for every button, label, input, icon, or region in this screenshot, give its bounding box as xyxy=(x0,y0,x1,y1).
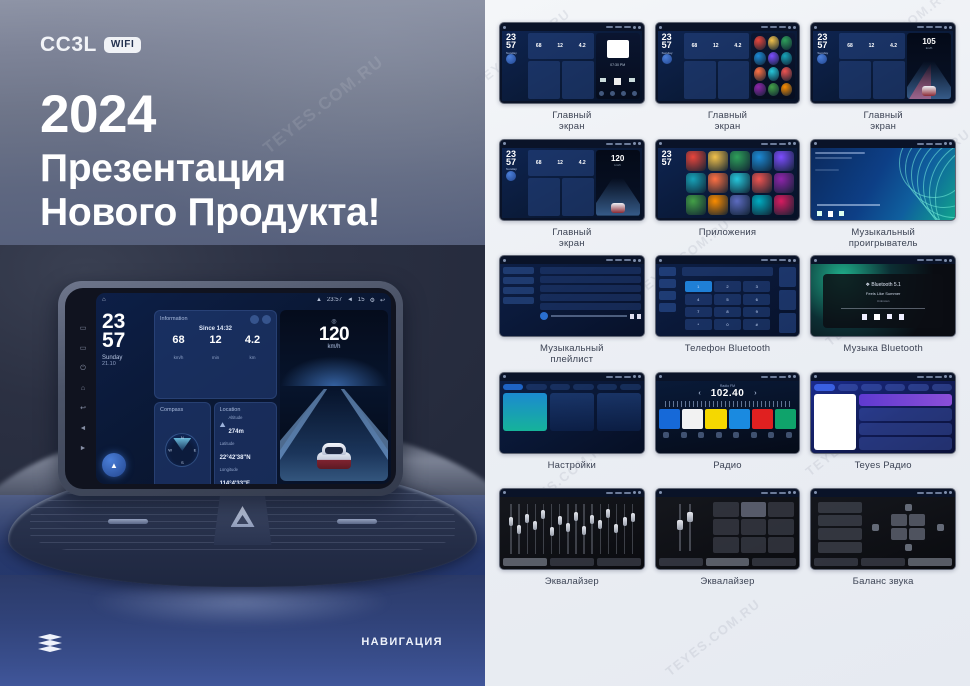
key-reset[interactable]: ▭ xyxy=(80,345,87,352)
gear-icon xyxy=(944,26,947,29)
information-card[interactable]: 68124.2 xyxy=(528,33,594,59)
toolbar-icon[interactable] xyxy=(768,432,774,438)
settings-tabs[interactable] xyxy=(503,384,641,390)
screen-thumbnail[interactable]: 2357Sunday68124.2105km/h xyxy=(810,22,956,104)
information-header: Information xyxy=(160,315,271,324)
playlist-layout xyxy=(500,264,644,336)
preset-logo[interactable] xyxy=(659,409,680,429)
app-icon[interactable] xyxy=(686,173,706,193)
eq-tab[interactable] xyxy=(752,558,796,566)
navigation-button[interactable] xyxy=(662,54,672,64)
preset-logo[interactable] xyxy=(729,409,750,429)
screen-thumbnail[interactable]: 123456789*0# xyxy=(655,255,801,337)
eq-band[interactable] xyxy=(573,504,579,554)
volume-icon: ◄ xyxy=(347,297,353,303)
track-list[interactable] xyxy=(537,264,643,336)
location-card[interactable] xyxy=(562,61,594,99)
compass-dial: N E S W xyxy=(165,433,199,467)
thumbnail-caption: Приложения xyxy=(699,227,757,249)
clock-icon xyxy=(770,259,777,261)
speed-unit: km/h xyxy=(907,46,951,50)
refresh-icon[interactable] xyxy=(250,315,259,324)
station-list[interactable] xyxy=(859,394,952,450)
settings-tab[interactable] xyxy=(550,384,570,390)
clock-icon xyxy=(926,376,933,378)
app-icon[interactable] xyxy=(730,151,750,171)
preset-list[interactable] xyxy=(659,409,797,429)
app-icon[interactable] xyxy=(768,52,779,66)
driving-view[interactable]: ◎ 120 km/h xyxy=(280,310,388,481)
now-playing-bar[interactable] xyxy=(540,312,640,320)
playlist-sidebar[interactable] xyxy=(500,264,537,336)
preset-logo[interactable] xyxy=(775,409,796,429)
hazard-triangle-icon[interactable] xyxy=(231,506,255,527)
eq-tab[interactable] xyxy=(908,558,952,566)
fade-front-button[interactable] xyxy=(905,504,912,511)
compass-card[interactable]: Compass N E S W xyxy=(154,402,211,484)
eq-sliders[interactable] xyxy=(661,502,709,553)
gallery-item[interactable]: Музыкальныйпроигрыватель xyxy=(810,139,956,250)
teyes-radio-layout xyxy=(811,381,955,453)
location-card[interactable]: Location ⛰ Altitude 274m xyxy=(214,402,277,484)
thumbnail-caption: Главныйэкран xyxy=(708,110,747,132)
settings-tab[interactable] xyxy=(620,384,640,390)
gear-icon xyxy=(633,491,636,494)
clock-icon xyxy=(615,376,622,378)
gallery-item[interactable]: Эквалайзер xyxy=(499,488,645,598)
speed-icon: ◎ xyxy=(280,318,388,325)
dial-key[interactable]: # xyxy=(743,319,770,330)
dial-key[interactable]: 5 xyxy=(714,294,741,305)
app-icon[interactable] xyxy=(781,52,792,66)
toolbar-icon[interactable] xyxy=(716,432,722,438)
app-icon[interactable] xyxy=(708,151,728,171)
eq-tab[interactable] xyxy=(659,558,703,566)
preset-pads[interactable] xyxy=(713,502,795,553)
radio-layout: Radio FM‹102.40› xyxy=(656,381,800,453)
screen-thumbnail[interactable] xyxy=(655,488,801,570)
volume-icon xyxy=(624,143,631,145)
preset-list[interactable] xyxy=(818,502,862,553)
preset-row[interactable] xyxy=(818,542,862,553)
station-row[interactable] xyxy=(859,423,952,436)
track-row[interactable] xyxy=(540,276,640,283)
clock-icon xyxy=(615,26,622,28)
preset-logo[interactable] xyxy=(752,409,773,429)
head-unit-side-keys[interactable]: ▭ ▭ ⏻ ⌂ ↩ ◄ ► xyxy=(70,293,96,484)
preset-pad[interactable] xyxy=(768,502,794,518)
gallery-item[interactable]: Radio FM‹102.40›Радио xyxy=(655,372,801,482)
watermark: TEYES.COM.RU xyxy=(663,596,763,679)
next-station-button[interactable]: › xyxy=(754,390,756,397)
preset-pad[interactable] xyxy=(768,519,794,535)
widgets: 68124.2 xyxy=(528,150,594,216)
navigation-button[interactable] xyxy=(506,171,516,181)
app-icon[interactable] xyxy=(768,67,779,81)
thumbnail-caption: Музыка Bluetooth xyxy=(843,343,923,365)
screen-thumbnail[interactable] xyxy=(810,488,956,570)
dial-key[interactable]: 0 xyxy=(714,319,741,330)
media-shortcuts[interactable] xyxy=(596,91,640,96)
category-tab[interactable] xyxy=(838,384,858,391)
preset-pad[interactable] xyxy=(768,537,794,553)
settings-tab[interactable] xyxy=(597,384,617,390)
dial-key[interactable]: 9 xyxy=(743,307,770,318)
key-home[interactable]: ⌂ xyxy=(81,385,85,392)
app-icon[interactable] xyxy=(754,67,765,81)
gallery-item[interactable]: 2357Sunday68124.2120km/hГлавныйэкран xyxy=(499,139,645,250)
app-icon[interactable] xyxy=(781,67,792,81)
station-row[interactable] xyxy=(859,437,952,450)
eq-band[interactable] xyxy=(630,504,636,554)
home-icon xyxy=(503,142,506,145)
app-icon[interactable] xyxy=(768,83,779,97)
toolbar-icon[interactable] xyxy=(681,432,687,438)
gallery-item[interactable]: 2357Sunday68124.207:30 PMГлавныйэкран xyxy=(499,22,645,133)
screen-thumbnail[interactable]: ❖ Bluetooth 5.1Feels Like SummerUnknown xyxy=(810,255,956,337)
volume-icon xyxy=(779,376,786,378)
wifi-icon xyxy=(606,492,613,494)
wifi-icon xyxy=(761,376,768,378)
screen-thumbnail[interactable] xyxy=(499,372,645,454)
radio-toolbar[interactable] xyxy=(659,432,797,439)
screen-thumbnail[interactable]: 2357Sunday68124.2120km/h xyxy=(499,139,645,221)
dial-pad[interactable]: 123456789*0# xyxy=(682,278,774,333)
screen-thumbnail[interactable] xyxy=(810,372,956,454)
screen-thumbnail[interactable] xyxy=(499,255,645,337)
station-row[interactable] xyxy=(859,408,952,421)
settings-tab[interactable] xyxy=(526,384,546,390)
volume-icon xyxy=(624,492,631,494)
toolbar-icon[interactable] xyxy=(786,432,792,438)
eq-band[interactable] xyxy=(605,504,611,554)
gear-icon xyxy=(633,142,636,145)
wifi-badge: WIFI xyxy=(104,37,142,53)
compass-card[interactable] xyxy=(528,178,560,216)
category-tab[interactable] xyxy=(814,384,834,391)
sidebar-item[interactable] xyxy=(659,267,676,276)
eq-band[interactable] xyxy=(622,504,628,554)
toolbar-icon[interactable] xyxy=(698,432,704,438)
gallery-item[interactable]: 2357Приложения xyxy=(655,139,801,250)
toolbar-icon[interactable] xyxy=(733,432,739,438)
head-unit-screen[interactable]: ⌂ ▲ 23:57 ◄ 15 ⚙ ↩ 23 xyxy=(96,293,391,484)
screen-thumbnail[interactable] xyxy=(810,139,956,221)
stat-distance-value: 4.2 xyxy=(234,335,271,346)
settings-tab[interactable] xyxy=(573,384,593,390)
eq-tabs[interactable] xyxy=(814,558,952,566)
preset-pad[interactable] xyxy=(741,519,767,535)
eq-band-bars[interactable] xyxy=(503,500,641,558)
speed-value: 120km/h xyxy=(596,154,640,167)
app-icon[interactable] xyxy=(781,36,792,50)
track-row[interactable] xyxy=(540,303,640,310)
progress-bar[interactable] xyxy=(841,308,925,310)
preset-row[interactable] xyxy=(818,515,862,526)
dial-key[interactable]: 1 xyxy=(685,281,712,292)
home-icon xyxy=(814,491,817,494)
gallery-item[interactable]: 123456789*0#Телефон Bluetooth xyxy=(655,255,801,366)
eq-tab[interactable] xyxy=(706,558,750,566)
volume-icon xyxy=(779,259,786,261)
key-volume-up[interactable]: ► xyxy=(80,445,87,452)
sidebar-item[interactable] xyxy=(503,297,534,304)
thumbnail-caption: Эквалайзер xyxy=(700,576,754,598)
gallery-item[interactable]: 2357Sunday68124.2Главныйэкран xyxy=(655,22,801,133)
eq-band[interactable] xyxy=(549,504,555,554)
thumb-status-bar xyxy=(656,373,800,381)
eq-band[interactable] xyxy=(524,504,530,554)
category-tab[interactable] xyxy=(908,384,928,391)
eq-tab[interactable] xyxy=(503,558,547,566)
phone-actions[interactable] xyxy=(776,264,799,336)
compass-dial-wrap: N E S W xyxy=(160,415,205,484)
app-icon[interactable] xyxy=(774,151,794,171)
key-volume-down[interactable]: ◄ xyxy=(80,425,87,432)
thumb-status-bar xyxy=(656,256,800,264)
location-card[interactable] xyxy=(873,61,905,99)
app-icon[interactable] xyxy=(730,173,750,193)
gallery-item[interactable]: 2357Sunday68124.2105km/hГлавныйэкран xyxy=(810,22,956,133)
app-icon[interactable] xyxy=(730,195,750,215)
gallery-item[interactable]: Баланс звука xyxy=(810,488,956,598)
dial-key[interactable]: 4 xyxy=(685,294,712,305)
wifi-icon xyxy=(761,143,768,145)
right-panel[interactable]: 07:30 PM xyxy=(596,33,640,99)
eq-band[interactable] xyxy=(597,504,603,554)
information-card[interactable]: Information Since 14:32 xyxy=(154,310,277,399)
prev-station-button[interactable]: ‹ xyxy=(698,390,700,397)
eq-tab[interactable] xyxy=(550,558,594,566)
navigation-button[interactable] xyxy=(102,453,126,477)
player-controls[interactable] xyxy=(862,314,904,320)
album-art xyxy=(607,40,629,58)
sidebar-item[interactable] xyxy=(503,267,534,274)
clock-icon xyxy=(770,143,777,145)
app-icon[interactable] xyxy=(752,195,772,215)
right-panel[interactable]: 105km/h xyxy=(907,33,951,99)
wifi-tile[interactable] xyxy=(503,393,547,431)
information-card[interactable]: 68124.2 xyxy=(684,33,750,59)
app-icon[interactable] xyxy=(754,52,765,66)
widgets: 68124.2 xyxy=(839,33,905,99)
gallery-item[interactable]: ❖ Bluetooth 5.1Feels Like SummerUnknownМ… xyxy=(810,255,956,366)
track-row[interactable] xyxy=(540,267,640,274)
dial-key[interactable]: 6 xyxy=(743,294,770,305)
bluetooth-tile[interactable] xyxy=(550,393,594,431)
toolbar-icon[interactable] xyxy=(751,432,757,438)
latitude-label: Latitude xyxy=(220,441,271,446)
key-power[interactable]: ⏻ xyxy=(80,365,86,372)
display-tile[interactable] xyxy=(597,393,641,431)
eq-tab[interactable] xyxy=(597,558,641,566)
gallery-item[interactable]: Настройки xyxy=(499,372,645,482)
preset-logo[interactable] xyxy=(682,409,703,429)
thumb-status-bar xyxy=(811,373,955,381)
volume-icon xyxy=(935,26,942,28)
player-controls[interactable] xyxy=(817,211,844,217)
preset-pad[interactable] xyxy=(713,537,739,553)
settings-tab[interactable] xyxy=(503,384,523,390)
eq-band[interactable] xyxy=(508,504,514,554)
app-icon[interactable] xyxy=(754,83,765,97)
compass-card[interactable] xyxy=(528,61,560,99)
gallery-item[interactable]: Teyes Радио xyxy=(810,372,956,482)
app-icon[interactable] xyxy=(774,173,794,193)
app-icon[interactable] xyxy=(752,151,772,171)
car-illustration xyxy=(611,203,625,213)
wifi-icon xyxy=(606,259,613,261)
app-icon[interactable] xyxy=(686,151,706,171)
app-icon[interactable] xyxy=(768,36,779,50)
app-icon[interactable] xyxy=(686,195,706,215)
brand-logo: CC3L WIFI xyxy=(40,33,141,57)
navigation-button[interactable] xyxy=(506,54,516,64)
volume-icon xyxy=(935,259,942,261)
screen-thumbnail[interactable]: 2357Sunday68124.207:30 PM xyxy=(499,22,645,104)
balance-right-button[interactable] xyxy=(937,524,944,531)
gallery-item[interactable]: Музыкальныйплейлист xyxy=(499,255,645,366)
eq-band[interactable] xyxy=(532,504,538,554)
toolbar-icon[interactable] xyxy=(663,432,669,438)
track-row[interactable] xyxy=(540,294,640,301)
back-icon xyxy=(638,491,641,494)
altitude-value: 274m xyxy=(228,429,243,435)
location-card[interactable] xyxy=(718,61,750,99)
category-tab[interactable] xyxy=(932,384,952,391)
category-tab[interactable] xyxy=(885,384,905,391)
home-icon xyxy=(503,259,506,262)
thumb-status-bar xyxy=(500,489,644,497)
brand-name: CC3L xyxy=(40,33,97,57)
category-tab[interactable] xyxy=(861,384,881,391)
home-icon[interactable]: ⌂ xyxy=(102,297,106,303)
gear-icon xyxy=(633,26,636,29)
media-controls[interactable] xyxy=(596,78,640,85)
eq-tabs[interactable] xyxy=(659,558,797,566)
speed-unit: km/h xyxy=(596,163,640,167)
preset-pad[interactable] xyxy=(741,502,767,518)
location-card[interactable] xyxy=(562,178,594,216)
thumbnail-caption: Музыкальныйплейлист xyxy=(540,343,604,365)
preset-pad[interactable] xyxy=(713,502,739,518)
eq-band[interactable] xyxy=(613,504,619,554)
eq-tabs[interactable] xyxy=(503,558,641,566)
back-icon[interactable]: ↩ xyxy=(380,297,385,304)
home-icon xyxy=(659,142,662,145)
eq-band[interactable] xyxy=(540,504,546,554)
eq-band[interactable] xyxy=(581,504,587,554)
dial-key[interactable]: * xyxy=(685,319,712,330)
vent-slider-left[interactable] xyxy=(108,519,148,524)
back-icon xyxy=(638,142,641,145)
preset-row[interactable] xyxy=(818,502,862,513)
expand-icon[interactable] xyxy=(262,315,271,324)
station-row[interactable] xyxy=(859,394,952,407)
layers-icon[interactable] xyxy=(38,634,62,654)
eq-band[interactable] xyxy=(516,504,522,554)
stat-duration-value: 12 xyxy=(197,335,234,346)
right-panel[interactable]: 120km/h xyxy=(596,150,640,216)
frequency-scale[interactable] xyxy=(665,401,791,407)
progress-bar[interactable] xyxy=(817,204,880,206)
dial-key[interactable]: 3 xyxy=(743,281,770,292)
gear-icon xyxy=(788,26,791,29)
widgets: 68124.2 xyxy=(528,33,594,99)
app-icon[interactable] xyxy=(781,83,792,97)
settings-tiles[interactable] xyxy=(503,393,641,431)
eq-band[interactable] xyxy=(565,504,571,554)
screen-thumbnail[interactable]: 2357Sunday68124.2 xyxy=(655,22,801,104)
sidebar-item[interactable] xyxy=(659,291,676,300)
category-tabs[interactable] xyxy=(814,384,952,391)
screen-thumbnail[interactable]: 2357 xyxy=(655,139,801,221)
preset-pad[interactable] xyxy=(713,519,739,535)
navigation-button[interactable] xyxy=(817,54,827,64)
screen-thumbnail[interactable]: Radio FM‹102.40› xyxy=(655,372,801,454)
eq-tab[interactable] xyxy=(814,558,858,566)
app-icon[interactable] xyxy=(774,195,794,215)
compass-card[interactable] xyxy=(839,61,871,99)
eq-tab[interactable] xyxy=(861,558,905,566)
speaker-quad[interactable] xyxy=(891,514,925,540)
right-panel[interactable] xyxy=(751,33,795,99)
navigation-label: НАВИГАЦИЯ xyxy=(361,636,443,648)
fade-rear-button[interactable] xyxy=(905,544,912,551)
sidebar-item[interactable] xyxy=(659,303,676,312)
thumbnail-caption: Музыкальныйпроигрыватель xyxy=(849,227,918,249)
sidebar-item[interactable] xyxy=(503,287,534,294)
screen-thumbnail[interactable] xyxy=(499,488,645,570)
balance-stage[interactable] xyxy=(868,502,948,553)
preset-row[interactable] xyxy=(818,528,862,539)
phone-sidebar[interactable] xyxy=(656,264,679,336)
dial-key[interactable]: 8 xyxy=(714,307,741,318)
head-unit-bezel: ▭ ▭ ⏻ ⌂ ↩ ◄ ► ⌂ ▲ 23:57 xyxy=(65,288,396,489)
information-card[interactable]: 68124.2 xyxy=(528,150,594,176)
dial-key[interactable]: 7 xyxy=(685,307,712,318)
app-icon[interactable] xyxy=(708,195,728,215)
dial-key[interactable]: 2 xyxy=(714,281,741,292)
track-row[interactable] xyxy=(540,285,640,292)
sidebar-item[interactable] xyxy=(659,279,676,288)
status-bar: ⌂ ▲ 23:57 ◄ 15 ⚙ ↩ xyxy=(96,293,391,307)
thumbnail-caption: Настройки xyxy=(548,460,596,482)
eq-band[interactable] xyxy=(589,504,595,554)
gear-icon[interactable]: ⚙ xyxy=(370,297,375,304)
app-icon[interactable] xyxy=(708,173,728,193)
wifi-icon xyxy=(606,376,613,378)
preset-pad[interactable] xyxy=(741,537,767,553)
preset-logo[interactable] xyxy=(705,409,726,429)
thumbnail-caption: Teyes Радио xyxy=(855,460,912,482)
balance-left-button[interactable] xyxy=(872,524,879,531)
vent-slider-right[interactable] xyxy=(337,519,377,524)
sidebar-item[interactable] xyxy=(503,277,534,284)
app-icon[interactable] xyxy=(752,173,772,193)
thumb-status-bar xyxy=(811,256,955,264)
home-icon xyxy=(814,26,817,29)
visualizer xyxy=(889,148,955,220)
app-icon[interactable] xyxy=(754,36,765,50)
compass-card[interactable] xyxy=(684,61,716,99)
gallery-item[interactable]: Эквалайзер xyxy=(655,488,801,598)
headline-line-1: Презентация xyxy=(40,147,380,191)
key-back[interactable]: ↩ xyxy=(80,405,86,412)
information-card[interactable]: 68124.2 xyxy=(839,33,905,59)
eq-band[interactable] xyxy=(557,504,563,554)
key-mic[interactable]: ▭ xyxy=(80,325,87,332)
